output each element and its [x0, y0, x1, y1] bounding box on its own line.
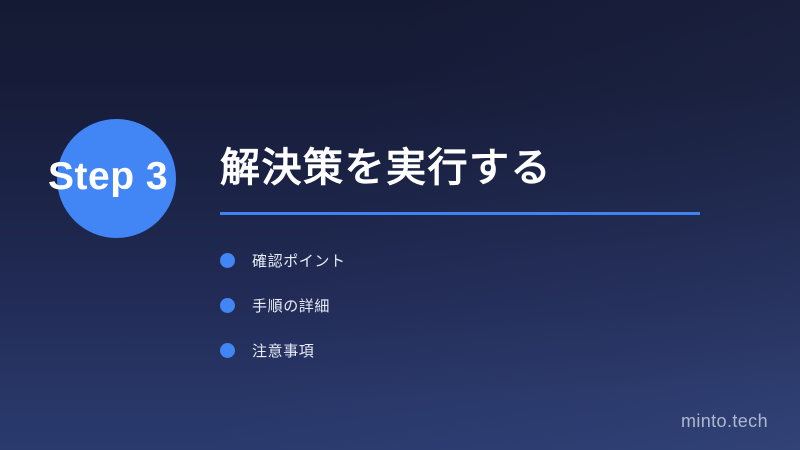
list-item: 手順の詳細 — [220, 283, 690, 328]
list-item-label: 確認ポイント — [252, 250, 346, 271]
title-underline-divider — [220, 212, 700, 215]
step-badge-label: Step 3 — [48, 152, 208, 202]
list-item-label: 手順の詳細 — [252, 295, 330, 316]
dot-icon — [220, 253, 235, 268]
dot-icon — [220, 343, 235, 358]
bullet-list: 確認ポイント 手順の詳細 注意事項 — [220, 238, 690, 373]
list-item: 確認ポイント — [220, 238, 690, 283]
list-item: 注意事項 — [220, 328, 690, 373]
dot-icon — [220, 298, 235, 313]
brand-watermark: minto.tech — [681, 411, 768, 432]
presentation-slide: Step 3 解決策を実行する 確認ポイント 手順の詳細 注意事項 minto.… — [0, 0, 800, 450]
slide-title: 解決策を実行する — [220, 142, 552, 194]
list-item-label: 注意事項 — [252, 340, 314, 361]
